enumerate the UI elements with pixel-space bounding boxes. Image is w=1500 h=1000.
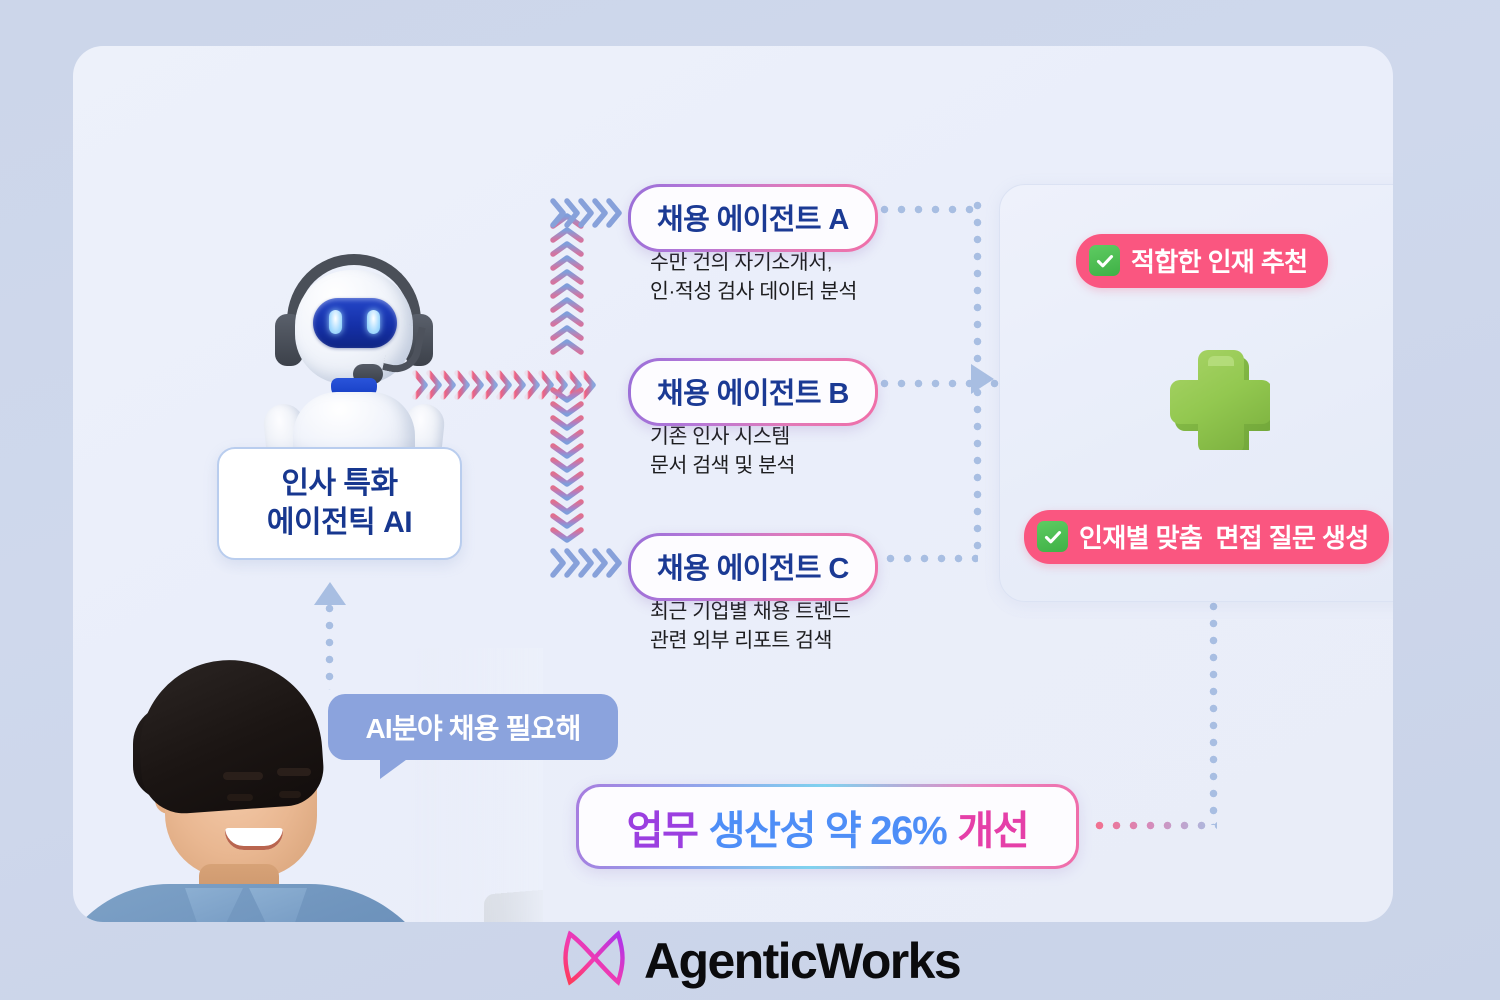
user-speech-bubble: AI분야 채용 필요해 [328, 694, 618, 760]
result-badge-top[interactable]: 적합한 인재 추천 [1076, 234, 1328, 288]
dotted-link-agent-b [880, 379, 978, 388]
agentic-ai-title-card: 인사 특화 에이전틱 AI [217, 447, 462, 560]
robot-headset-icon [259, 252, 449, 467]
agent-c-title: 채용 에이전트 C [657, 545, 849, 587]
speech-bubble-text: AI분야 채용 필요해 [365, 707, 580, 747]
plus-3d-icon [1162, 342, 1270, 450]
agent-card-b-inner: 채용 에이전트 B [631, 361, 875, 423]
ai-title-line-1: 인사 특화 [281, 465, 397, 503]
result-badge-top-label: 적합한 인재 추천 [1131, 242, 1308, 279]
user-photo [73, 648, 543, 922]
mouth [225, 828, 283, 850]
result-badge-bottom[interactable]: 인재별 맞춤 면접 질문 생성 [1024, 510, 1389, 564]
ai-title-line-2: 에이전틱 AI [267, 504, 412, 542]
chevron-to-agent-c [549, 542, 627, 584]
speech-bubble-tail [380, 757, 410, 779]
agent-card-a[interactable]: 채용 에이전트 A [628, 184, 878, 252]
agent-c-description: 최근 기업별 채용 트렌드 관련 외부 리포트 검색 [650, 597, 960, 655]
outcome-banner: 업무 생산성 약 26% 개선 [576, 784, 1079, 869]
arrowhead-to-results-icon [971, 364, 994, 394]
brand-logo: AgenticWorks [562, 928, 960, 993]
robot-eye-left [329, 310, 342, 334]
chevron-branch-down [544, 384, 590, 554]
agent-a-title: 채용 에이전트 A [657, 196, 849, 238]
agent-b-title: 채용 에이전트 B [657, 370, 849, 412]
dotted-outcome-vertical [1209, 602, 1218, 825]
laptop-screen [484, 880, 543, 922]
chevron-to-agent-a [549, 192, 627, 234]
arrowhead-up-icon [314, 582, 346, 605]
agent-card-a-inner: 채용 에이전트 A [631, 187, 875, 249]
eyebrow-right [277, 768, 311, 776]
agenticworks-knot-icon [562, 928, 626, 993]
agent-card-c[interactable]: 채용 에이전트 C [628, 533, 878, 601]
outcome-banner-inner: 업무 생산성 약 26% 개선 [579, 787, 1076, 866]
check-square-icon [1089, 245, 1120, 276]
check-square-icon [1037, 521, 1068, 552]
agent-card-b[interactable]: 채용 에이전트 B [628, 358, 878, 426]
agent-card-c-inner: 채용 에이전트 C [631, 536, 875, 598]
dotted-link-agent-a [880, 205, 978, 214]
agent-b-description: 기존 인사 시스템 문서 검색 및 분석 [650, 422, 950, 480]
outcome-segment-2: 생산성 약 26% [709, 798, 947, 856]
robot-visor [313, 298, 397, 348]
result-badge-bottom-label: 인재별 맞춤 면접 질문 생성 [1079, 518, 1369, 555]
outcome-segment-3: 개선 [957, 798, 1028, 856]
dotted-outcome-horizontal [1095, 821, 1217, 830]
dotted-link-agent-c [886, 554, 978, 563]
brand-logo-text: AgenticWorks [644, 932, 960, 990]
eyebrow-left [223, 772, 263, 780]
infographic-canvas: 인사 특화 에이전틱 AI [73, 46, 1393, 922]
robot-eye-right [367, 310, 380, 334]
agent-a-description: 수만 건의 자기소개서, 인·적성 검사 데이터 분석 [650, 248, 950, 306]
eye-left [227, 794, 253, 801]
outcome-segment-1: 업무 [627, 798, 698, 856]
eye-right [279, 791, 301, 798]
